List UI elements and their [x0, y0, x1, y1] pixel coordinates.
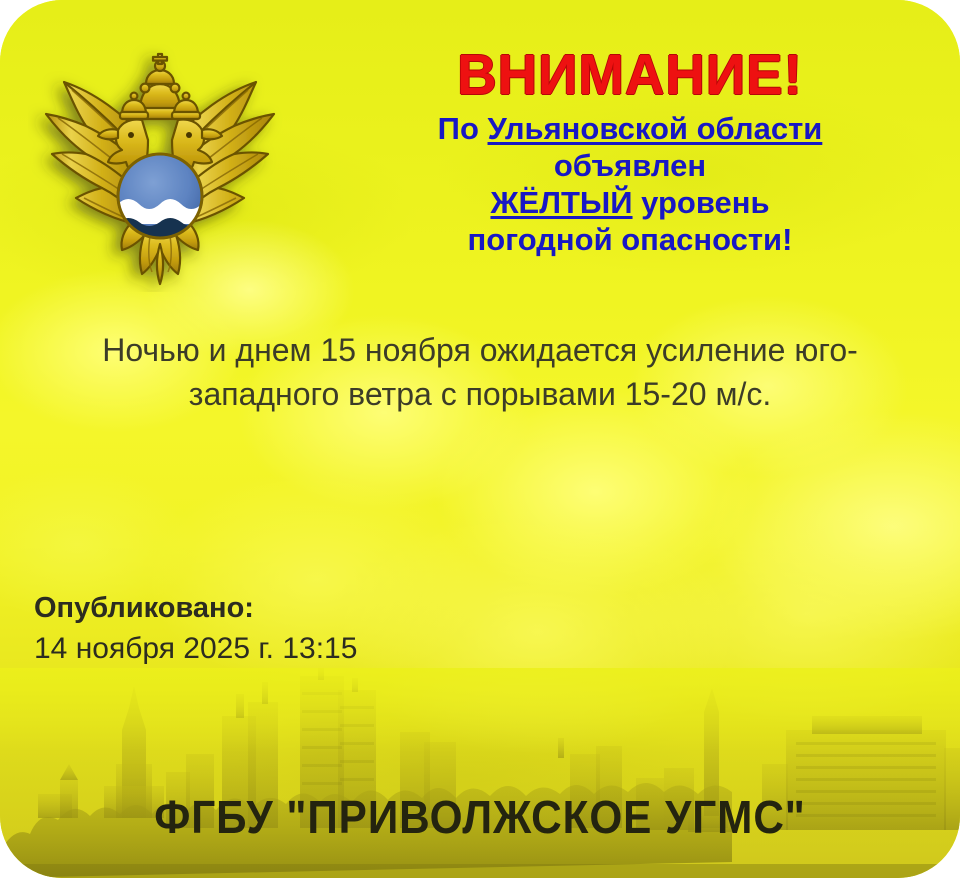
forecast-body-text: Ночью и днем 15 ноября ожидается усилени…	[46, 328, 914, 416]
organization-name: ФГБУ "ПРИВОЛЖСКОЕ УГМС"	[38, 792, 921, 842]
warning-line-declared: объявлен	[330, 147, 930, 184]
hazard-level-underlined: ЖЁЛТЫЙ	[490, 185, 632, 220]
attention-title: ВНИМАНИЕ!	[342, 46, 918, 104]
published-block: Опубликовано: 14 ноября 2025 г. 13:15	[34, 588, 357, 670]
warning-line-region: По Ульяновской области	[330, 110, 930, 147]
roshydromet-emblem-icon	[28, 44, 292, 292]
warning-heading: По Ульяновской области объявлен ЖЁЛТЫЙ у…	[330, 110, 930, 258]
published-label: Опубликовано:	[34, 588, 357, 628]
city-skyline-silhouette	[0, 668, 960, 878]
warning-line-hazard: погодной опасности!	[330, 221, 930, 258]
region-name-underlined: Ульяновской области	[488, 111, 823, 146]
warning-line-level: ЖЁЛТЫЙ уровень	[330, 184, 930, 221]
hazard-level-suffix: уровень	[633, 185, 770, 220]
warning-line-region-prefix: По	[438, 111, 488, 146]
published-date: 14 ноября 2025 г. 13:15	[34, 628, 357, 670]
header-block: ВНИМАНИЕ! По Ульяновской области объявле…	[330, 46, 930, 258]
weather-warning-poster: ВНИМАНИЕ! По Ульяновской области объявле…	[0, 0, 960, 878]
